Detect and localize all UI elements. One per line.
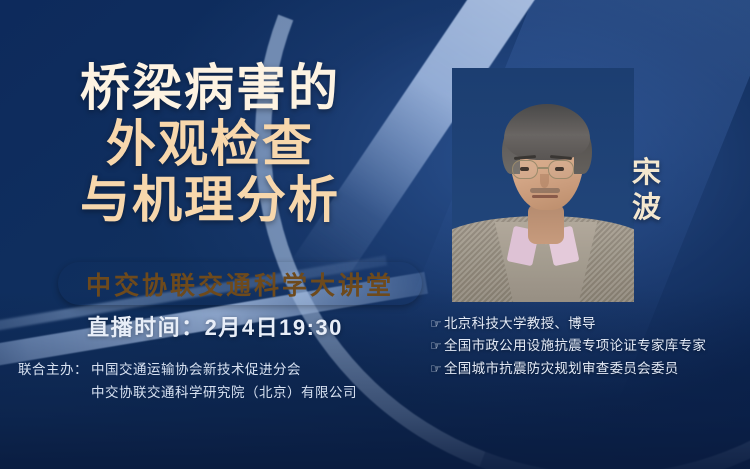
speaker-portrait xyxy=(452,68,634,302)
mustache-shape xyxy=(530,188,560,193)
pointing-hand-icon: ☞ xyxy=(430,335,442,356)
credential-text: 全国市政公用设施抗震专项论证专家库专家 xyxy=(444,335,706,357)
speaker-name-char-2: 波 xyxy=(632,191,663,226)
credential-item: ☞ 北京科技大学教授、博导 xyxy=(430,313,706,335)
glasses-lens-right xyxy=(548,160,574,179)
organizer-name-2: 中交协联交通科学研究院（北京）有限公司 xyxy=(91,381,357,404)
live-time: 直播时间：2月4日19:30 xyxy=(0,310,430,342)
title-line-3: 与机理分析 xyxy=(0,172,420,228)
organizer-name-1: 中国交通运输协会新技术促进分会 xyxy=(91,358,301,381)
left-text-column: 桥梁病害的 外观检查 与机理分析 中交协联交通科学大讲堂 直播时间：2月4日19… xyxy=(0,0,430,469)
nose-shape xyxy=(540,174,549,188)
series-badge-label: 中交协联交通科学大讲堂 xyxy=(86,266,394,302)
organizer-row: 联合主办： 中国交通运输协会新技术促进分会 xyxy=(0,358,438,381)
organizers-label: 联合主办： xyxy=(0,358,88,381)
series-badge: 中交协联交通科学大讲堂 xyxy=(58,262,422,305)
credential-item: ☞ 全国城市抗震防灾规划审查委员会委员 xyxy=(430,358,706,380)
title-line-2: 外观检查 xyxy=(0,116,420,172)
speaker-credentials: ☞ 北京科技大学教授、博导 ☞ 全国市政公用设施抗震专项论证专家库专家 ☞ 全国… xyxy=(430,313,706,380)
portrait-photo xyxy=(452,68,634,302)
poster-title: 桥梁病害的 外观检查 与机理分析 xyxy=(0,60,420,228)
webinar-poster: 宋 波 ☞ 北京科技大学教授、博导 ☞ 全国市政公用设施抗震专项论证专家库专家 … xyxy=(0,0,750,469)
credential-item: ☞ 全国市政公用设施抗震专项论证专家库专家 xyxy=(430,335,706,357)
credential-text: 全国城市抗震防灾规划审查委员会委员 xyxy=(444,358,679,380)
pointing-hand-icon: ☞ xyxy=(430,313,442,334)
title-line-1: 桥梁病害的 xyxy=(0,60,420,116)
pointing-hand-icon: ☞ xyxy=(430,358,442,379)
organizer-row: 联合主办： 中交协联交通科学研究院（北京）有限公司 xyxy=(0,381,438,404)
speaker-name-char-1: 宋 xyxy=(632,156,663,191)
organizers-block: 联合主办： 中国交通运输协会新技术促进分会 联合主办： 中交协联交通科学研究院（… xyxy=(0,358,438,404)
neck-shape xyxy=(528,204,564,244)
glasses-lens-left xyxy=(512,160,538,179)
glasses-bridge xyxy=(538,167,548,169)
speaker-name: 宋 波 xyxy=(632,156,663,227)
mouth-shape xyxy=(532,195,558,198)
hair-shape xyxy=(504,104,590,160)
credential-text: 北京科技大学教授、博导 xyxy=(444,313,596,335)
